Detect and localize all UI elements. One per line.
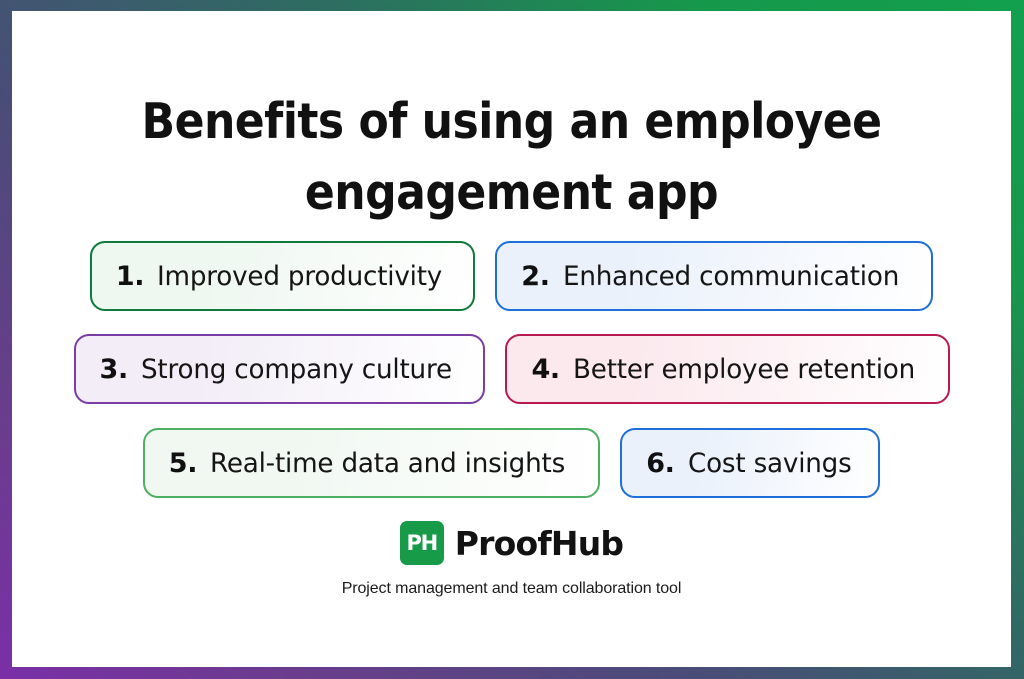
benefit-number: 4. xyxy=(531,354,559,385)
brand-block: PH ProofHub Project management and team … xyxy=(12,521,1011,598)
benefit-item-4[interactable]: 4. Better employee retention xyxy=(505,334,949,404)
benefit-label: Strong company culture xyxy=(141,354,452,385)
infographic-gradient-frame: Benefits of using an employee engagement… xyxy=(0,0,1024,679)
benefit-item-2[interactable]: 2. Enhanced communication xyxy=(495,241,933,311)
benefit-row-1: 1. Improved productivity 2. Enhanced com… xyxy=(12,241,1011,311)
benefit-label: Improved productivity xyxy=(157,261,442,292)
benefit-label: Cost savings xyxy=(688,448,852,479)
benefit-label: Enhanced communication xyxy=(563,261,899,292)
proofhub-mark-label: PH xyxy=(406,533,437,554)
benefit-item-5[interactable]: 5. Real-time data and insights xyxy=(143,428,600,498)
benefit-row-2: 3. Strong company culture 4. Better empl… xyxy=(12,334,1011,404)
benefit-item-3[interactable]: 3. Strong company culture xyxy=(74,334,486,404)
benefit-item-1[interactable]: 1. Improved productivity xyxy=(90,241,475,311)
benefit-row-3: 5. Real-time data and insights 6. Cost s… xyxy=(12,428,1011,498)
proofhub-logo: PH ProofHub xyxy=(400,521,624,565)
proofhub-mark-icon: PH xyxy=(400,521,444,565)
benefit-number: 3. xyxy=(100,354,128,385)
benefit-number: 2. xyxy=(521,261,549,292)
benefit-label: Real-time data and insights xyxy=(210,448,565,479)
benefit-number: 1. xyxy=(116,261,144,292)
benefit-label: Better employee retention xyxy=(573,354,915,385)
page-title: Benefits of using an employee engagement… xyxy=(62,86,961,228)
benefit-item-6[interactable]: 6. Cost savings xyxy=(620,428,880,498)
infographic-canvas: Benefits of using an employee engagement… xyxy=(12,11,1011,667)
proofhub-wordmark: ProofHub xyxy=(455,524,624,563)
brand-tagline: Project management and team collaboratio… xyxy=(342,580,682,598)
benefit-number: 6. xyxy=(646,448,674,479)
benefit-number: 5. xyxy=(169,448,197,479)
